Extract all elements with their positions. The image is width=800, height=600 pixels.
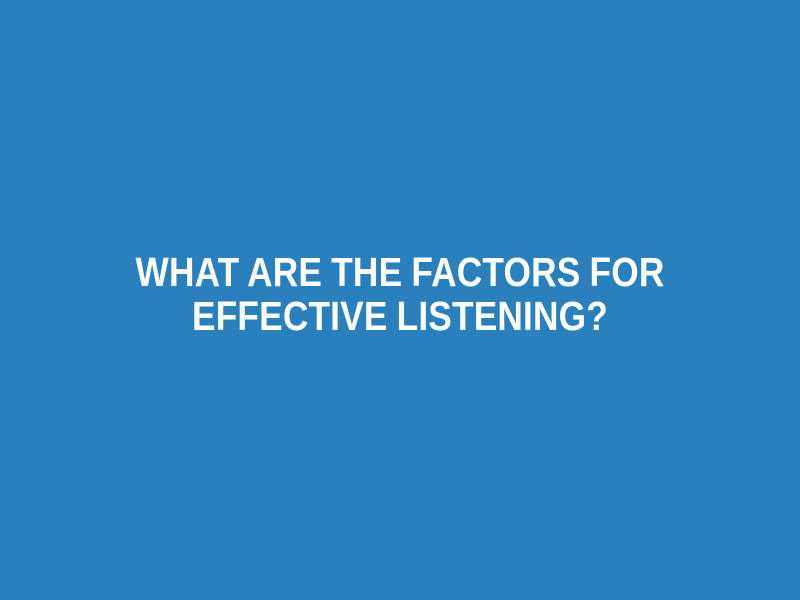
title-block: WHAT ARE THE FACTORS FOR EFFECTIVE LISTE…: [50, 250, 750, 338]
hero-banner: WHAT ARE THE FACTORS FOR EFFECTIVE LISTE…: [0, 0, 800, 600]
page-title: WHAT ARE THE FACTORS FOR EFFECTIVE LISTE…: [99, 250, 701, 338]
